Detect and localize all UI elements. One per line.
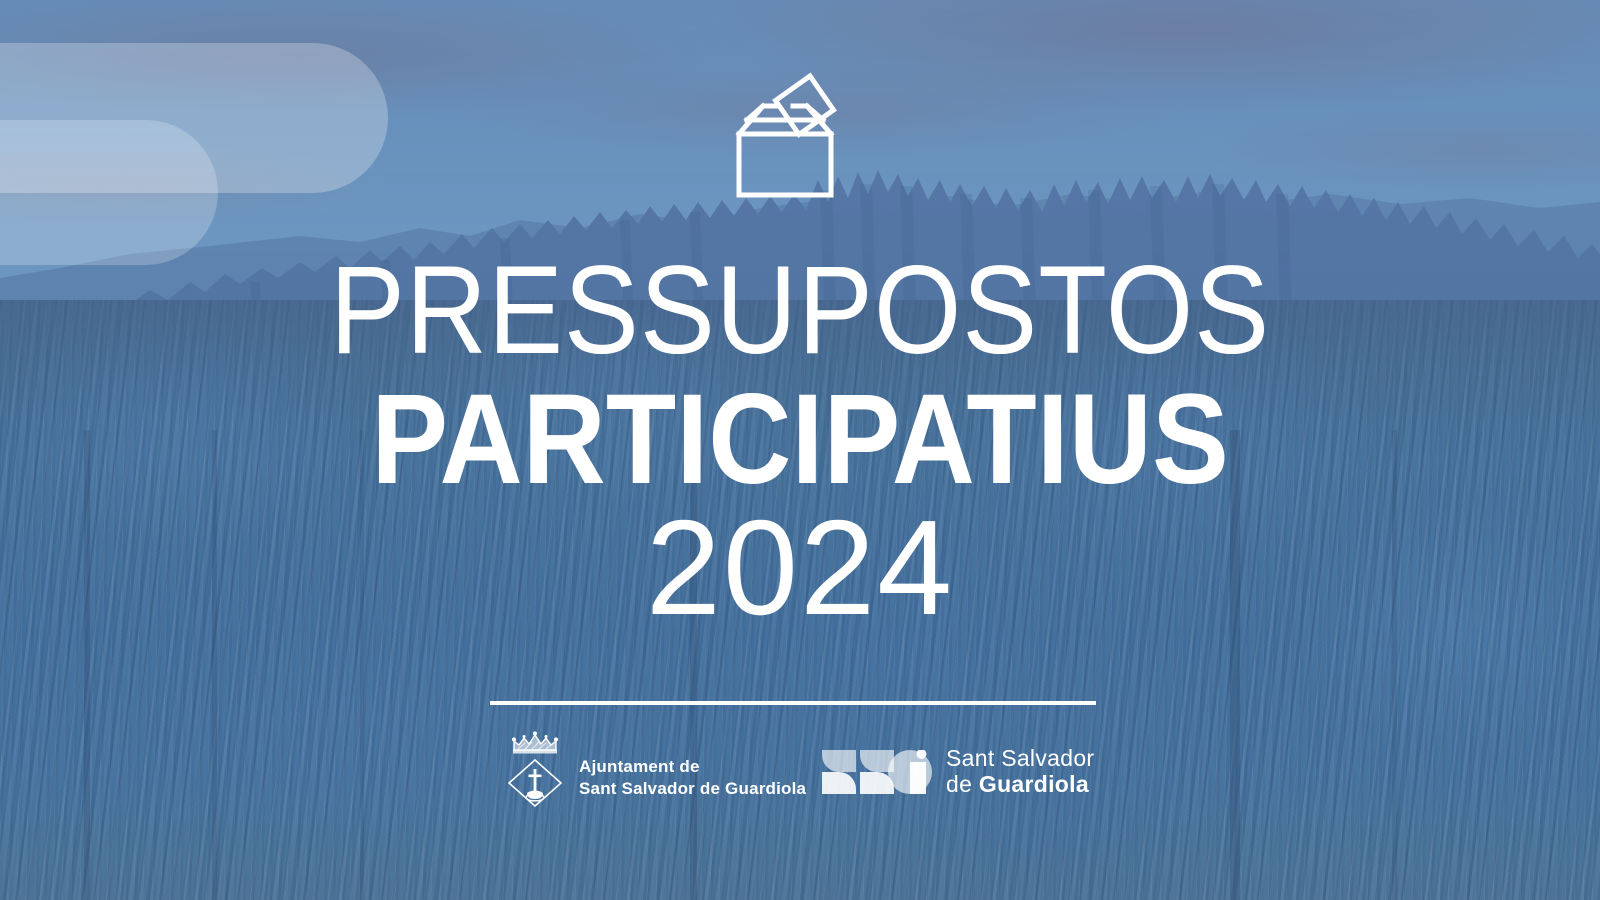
ajuntament-logo-text: Ajuntament de Sant Salvador de Guardiola bbox=[579, 734, 806, 801]
ssg-line-2: de Guardiola bbox=[946, 772, 1094, 798]
ssg-line-1: Sant Salvador bbox=[946, 746, 1094, 772]
ajuntament-line-2: Sant Salvador de Guardiola bbox=[579, 778, 806, 800]
poster-canvas: PRESSUPOSTOS PARTICIPATIUS 2024 bbox=[0, 0, 1600, 900]
ssg-logo: Sant Salvador de Guardiola bbox=[822, 746, 1094, 798]
ballot-box-icon bbox=[725, 62, 845, 202]
horizontal-divider bbox=[490, 701, 1096, 705]
title-line-pressupostos: PRESSUPOSTOS bbox=[80, 248, 1520, 373]
crown-icon bbox=[512, 731, 558, 753]
ajuntament-line-1: Ajuntament de bbox=[579, 756, 806, 778]
ssg-logo-text: Sant Salvador de Guardiola bbox=[946, 746, 1094, 798]
ssg-line-2-light: de bbox=[946, 771, 979, 797]
diamond-emblem-icon bbox=[509, 760, 561, 806]
title-line-year: 2024 bbox=[0, 500, 1600, 635]
title-line-participatius: PARTICIPATIUS bbox=[80, 376, 1520, 504]
footer-logos: Ajuntament de Sant Salvador de Guardiola bbox=[0, 726, 1600, 836]
ajuntament-logo: Ajuntament de Sant Salvador de Guardiola bbox=[505, 726, 806, 808]
ssg-line-2-bold: Guardiola bbox=[979, 771, 1089, 797]
ajuntament-crest-icon bbox=[505, 726, 565, 808]
ssg-monogram-icon bbox=[822, 750, 932, 794]
